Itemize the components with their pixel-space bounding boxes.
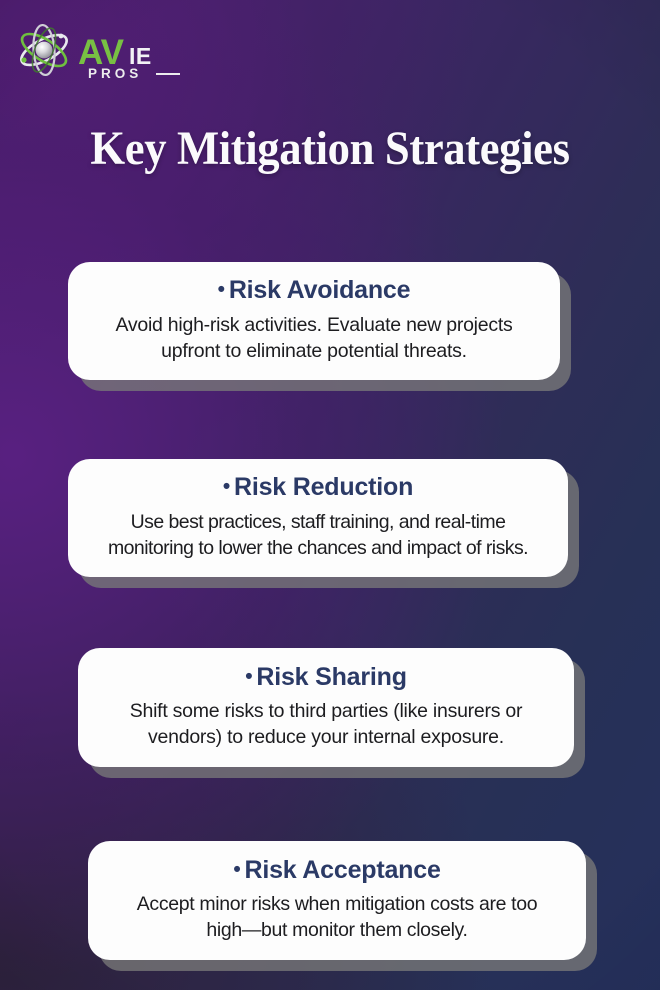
bullet-icon: • [218,278,225,301]
bullet-icon: • [245,665,252,688]
strategy-heading: •Risk Acceptance [233,856,440,886]
atom-icon: AV IE PROS [14,20,184,82]
strategy-body: Shift some risks to third parties (like … [130,698,523,750]
strategy-heading-text: Risk Reduction [234,473,413,501]
strategy-heading-text: Risk Avoidance [229,276,411,304]
strategy-heading: •Risk Avoidance [218,276,411,306]
bullet-icon: • [233,858,240,881]
strategy-heading-text: Risk Acceptance [244,856,440,884]
bullet-icon: • [223,475,230,498]
strategy-card: •Risk Avoidance Avoid high-risk activiti… [68,262,560,380]
brand-logo: AV IE PROS [14,20,184,82]
strategy-heading: •Risk Reduction [223,473,413,503]
strategy-body: Use best practices, staff training, and … [108,509,528,561]
strategy-card: •Risk Acceptance Accept minor risks when… [88,841,586,960]
strategy-body: Avoid high-risk activities. Evaluate new… [115,312,512,364]
strategy-card: •Risk Reduction Use best practices, staf… [68,459,568,577]
strategy-card: •Risk Sharing Shift some risks to third … [78,648,574,767]
strategy-heading-text: Risk Sharing [256,663,406,691]
strategy-heading: •Risk Sharing [245,663,407,693]
logo-tagline: PROS [88,66,142,81]
strategy-body: Accept minor risks when mitigation costs… [137,891,537,943]
page-title: Key Mitigation Strategies [23,124,637,175]
